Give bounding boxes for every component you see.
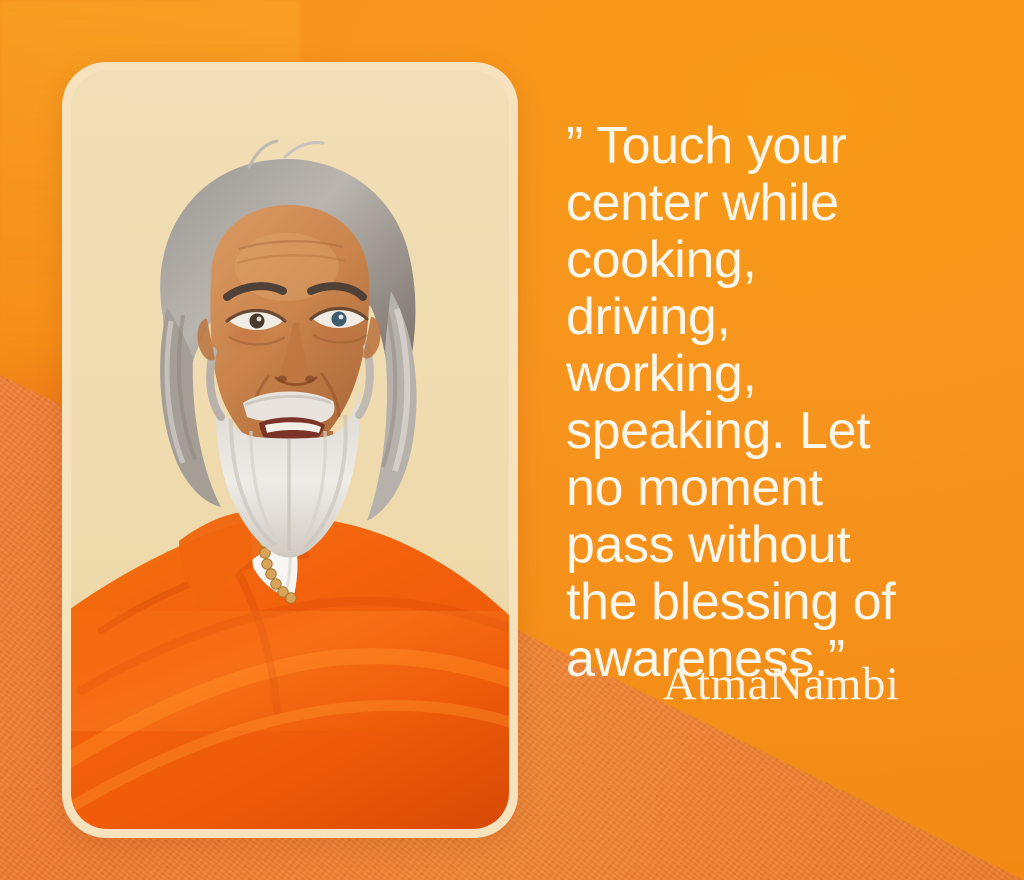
poster-canvas: ” Touch your center while cooking, drivi… bbox=[0, 0, 1024, 880]
portrait-photo bbox=[71, 71, 509, 829]
quote-text: ” Touch your center while cooking, drivi… bbox=[566, 118, 996, 688]
portrait-card bbox=[62, 62, 518, 838]
portrait-illustration bbox=[71, 71, 509, 829]
brand-signature: AtmaNambi bbox=[566, 656, 996, 712]
quote-block: ” Touch your center while cooking, drivi… bbox=[566, 118, 996, 688]
